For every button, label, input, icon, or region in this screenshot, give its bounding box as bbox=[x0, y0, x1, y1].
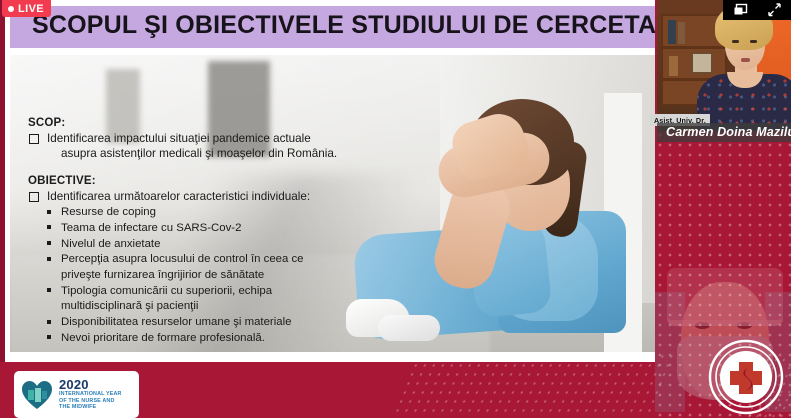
square-bullet-icon bbox=[47, 335, 51, 339]
list-item: Resurse de coping bbox=[28, 205, 358, 219]
hands-heart-icon bbox=[20, 378, 54, 412]
logo-line-2: OF THE NURSE AND bbox=[59, 399, 122, 404]
square-bullet-icon bbox=[47, 320, 51, 324]
slide-title-bar: SCOPUL ŞI OBIECTIVELE STUDIULUI DE CERCE… bbox=[10, 6, 655, 48]
square-bullet-icon bbox=[47, 288, 51, 292]
list-item-text: Disponibilitatea resurselor umane şi mat… bbox=[61, 316, 291, 328]
list-item-text: multidisciplinară şi pacienţii bbox=[61, 300, 198, 312]
list-item-text: Nivelul de anxietate bbox=[61, 238, 160, 250]
list-item: Teama de infectare cu SARS-Cov-2 bbox=[28, 221, 358, 235]
presentation-slide: SCOPUL ŞI OBIECTIVELE STUDIULUI DE CERCE… bbox=[0, 0, 655, 362]
square-bullet-icon bbox=[47, 210, 51, 214]
list-item-text: Teama de infectare cu SARS-Cov-2 bbox=[61, 222, 241, 234]
checkbox-bullet-icon bbox=[29, 192, 39, 202]
nurse-photo-subject bbox=[342, 93, 642, 355]
slide-text-column: SCOP: Identificarea impactului situaţiei… bbox=[28, 117, 358, 347]
slide-content-area: SCOP: Identificarea impactului situaţiei… bbox=[10, 55, 655, 355]
list-item: Percepţia asupra locusului de control în… bbox=[28, 252, 358, 266]
list-item-text: Identificarea următoarelor caracteristic… bbox=[47, 190, 310, 203]
square-bullet-icon bbox=[47, 257, 51, 261]
list-item: Nivelul de anxietate bbox=[28, 237, 358, 251]
list-item-text: Nevoi prioritare de formare profesională… bbox=[61, 332, 265, 344]
list-item-text: Tipologia comunicării cu superiorii, ech… bbox=[61, 285, 272, 297]
list-item: Identificarea următoarelor caracteristic… bbox=[28, 190, 358, 204]
list-item-text: asupra asistenţilor medicali şi moaşelor… bbox=[61, 147, 337, 160]
section-label-scop: SCOP: bbox=[28, 117, 358, 129]
list-item: Nevoi prioritare de formare profesională… bbox=[28, 331, 358, 345]
logo-line-3: THE MIDWIFE bbox=[59, 405, 122, 410]
list-item: Disponibilitatea resurselor umane şi mat… bbox=[28, 315, 358, 329]
slide-title: SCOPUL ŞI OBIECTIVELE STUDIULUI DE CERCE… bbox=[32, 11, 655, 40]
square-bullet-icon bbox=[47, 241, 51, 245]
list-item-text: priveşte furnizarea îngrijirior de sănăt… bbox=[61, 269, 264, 281]
list-item-continuation: priveşte furnizarea îngrijirior de sănăt… bbox=[28, 268, 358, 282]
section-label-obiective: OBIECTIVE: bbox=[28, 175, 358, 187]
square-bullet-icon bbox=[47, 225, 51, 229]
speaker-name-tag: Carmen Doina Mazilu bbox=[657, 123, 791, 142]
list-item-text: Resurse de coping bbox=[61, 206, 156, 218]
medical-cross-emblem bbox=[707, 338, 785, 416]
picture-in-picture-icon[interactable] bbox=[733, 3, 748, 17]
list-item-continuation: multidisciplinară şi pacienţii bbox=[28, 299, 358, 313]
list-item: Identificarea impactului situaţiei pande… bbox=[28, 132, 358, 146]
live-badge-label: LIVE bbox=[18, 3, 44, 15]
logo-year: 2020 bbox=[59, 378, 122, 391]
expand-arrows-icon[interactable] bbox=[767, 3, 782, 17]
video-controls-overlay[interactable] bbox=[723, 0, 791, 20]
nurse-midwife-year-logo: 2020 INTERNATIONAL YEAR OF THE NURSE AND… bbox=[14, 371, 139, 418]
record-dot-icon bbox=[8, 6, 14, 12]
list-item-text: Identificarea impactului situaţiei pande… bbox=[47, 132, 311, 145]
live-badge: LIVE bbox=[2, 0, 51, 17]
list-item: Tipologia comunicării cu superiorii, ech… bbox=[28, 284, 358, 298]
stream-viewport: SCOPUL ŞI OBIECTIVELE STUDIULUI DE CERCE… bbox=[0, 0, 791, 418]
slide-bottom-strip bbox=[10, 352, 655, 362]
list-item-text: Percepţia asupra locusului de control în… bbox=[61, 253, 304, 265]
checkbox-bullet-icon bbox=[29, 134, 39, 144]
logo-line-1: INTERNATIONAL YEAR bbox=[59, 392, 122, 397]
list-item-continuation: asupra asistenţilor medicali şi moaşelor… bbox=[28, 147, 358, 161]
